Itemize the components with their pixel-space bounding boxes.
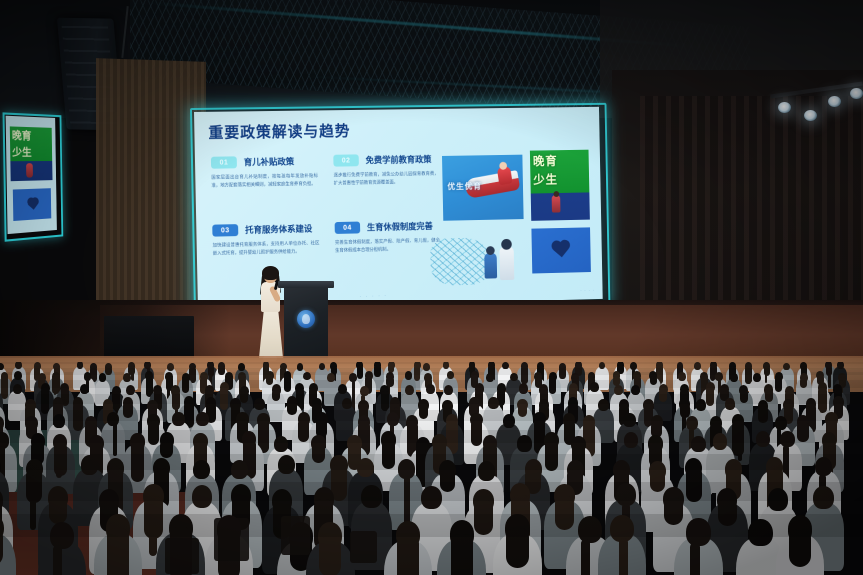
- section-heading-03: 托育服务体系建设: [245, 223, 312, 236]
- audience-member-hair: [419, 405, 429, 419]
- main-led-screen: 重要政策解读与趋势 01 育儿补贴政策 国家层面出台育儿补贴制度，按每孩每年发放…: [194, 107, 603, 310]
- side-display-screen: 晚育 少生: [6, 116, 57, 234]
- audience-member-head: [756, 431, 770, 447]
- audience-member-hair: [706, 387, 714, 405]
- side-banner-line1: 晚育: [12, 126, 32, 142]
- section-body-03: 加快建设普惠托育服务体系，支持用人单位办托、社区嵌入式托育，提升婴幼儿照护服务供…: [213, 239, 320, 258]
- audience-member-head: [13, 384, 22, 394]
- audience-member-head: [517, 435, 531, 451]
- section-badge-03: 03: [212, 224, 238, 237]
- podium: [284, 286, 328, 362]
- section-header: 02 免费学前教育政策: [333, 153, 438, 167]
- banner-caption-line2: 少生: [533, 171, 558, 188]
- audience-member-hair: [818, 388, 826, 413]
- section-header: 04 生育休假制度完善: [335, 220, 440, 234]
- presenter-skirt: [259, 310, 283, 358]
- slide-footer-right: · · · ·: [580, 287, 595, 292]
- section-body-02: 逐步推行免费学前教育，减免公办幼儿园保育教育费，扩大普惠性学前教育资源覆盖面。: [334, 170, 439, 188]
- audience-member-head: [303, 372, 311, 381]
- audience-member-hair: [220, 387, 228, 409]
- audience-member-head: [423, 363, 430, 371]
- audience-member-hair: [160, 440, 173, 458]
- banner-green-field: 晚育 少生: [530, 150, 589, 194]
- side-banner-image: 晚育 少生: [10, 126, 53, 181]
- audience-member-head: [488, 397, 499, 409]
- audience-member-hair: [506, 528, 528, 568]
- section-badge-02: 02: [333, 154, 359, 166]
- audience-member-hair: [374, 365, 380, 377]
- side-screen-content: 晚育 少生: [6, 116, 57, 234]
- audience-member-hair: [440, 470, 456, 492]
- audience-member-head: [196, 412, 208, 426]
- audience-member-ponytail: [54, 379, 57, 394]
- audience-member-hair: [650, 471, 666, 492]
- audience-member-head: [753, 373, 761, 382]
- presentation-slide: 重要政策解读与趋势 01 育儿补贴政策 国家层面出台育儿补贴制度，按每孩每年发放…: [194, 107, 603, 310]
- audience-member-head: [691, 436, 705, 452]
- audience-member-head: [713, 433, 727, 449]
- audience-member-hair: [545, 440, 558, 470]
- stage-spot-light-icon: [804, 110, 817, 121]
- audience-member-hair: [718, 499, 737, 526]
- audience-member-head: [696, 399, 707, 411]
- audience-member-head: [50, 522, 74, 550]
- audience-member-head: [254, 398, 265, 410]
- audience-member-ponytail: [53, 545, 62, 575]
- audience-member-hair: [312, 443, 325, 463]
- heart-icon: [25, 197, 40, 212]
- audience-member-hair: [107, 528, 129, 575]
- audience-member-head: [405, 371, 413, 380]
- audience-member-hair: [789, 529, 811, 567]
- audience-member-hair: [182, 377, 189, 393]
- audience-member-hair: [105, 367, 111, 375]
- audience-member-head: [327, 373, 335, 382]
- section-body-04: 完善生育休假制度，落实产假、陪产假、育儿假，健全生育休假成本合理分担机制。: [335, 237, 440, 255]
- audience-member-hair: [319, 536, 341, 575]
- audience-member-hair: [123, 402, 133, 417]
- banner-person-figure: [552, 195, 561, 213]
- audience-member-hair: [650, 376, 657, 386]
- slide-image-boat: 优生优育: [442, 155, 524, 221]
- audience-member-ponytail: [56, 448, 61, 478]
- slide-section-01: 01 育儿补贴政策 国家层面出台育儿补贴制度，按每孩每年发放补贴标准，地方配套落…: [211, 155, 318, 190]
- audience-member-head: [77, 362, 84, 369]
- audience-member-head: [172, 412, 184, 426]
- audience-member-ponytail: [738, 426, 743, 460]
- audience-member-head: [123, 373, 131, 382]
- audience-member-hair: [797, 422, 808, 442]
- audience-member-head: [342, 398, 353, 410]
- audience-member-hair: [298, 419, 309, 443]
- audience-member-hair: [549, 376, 556, 394]
- audience-member-head: [192, 485, 212, 508]
- audience-member-hair: [73, 403, 83, 432]
- audience-member-ponytail: [404, 476, 410, 527]
- audience-member-head: [519, 383, 528, 393]
- audience-member-head: [578, 516, 602, 544]
- audience-chair: [350, 531, 378, 563]
- audience-member-hair: [471, 420, 482, 446]
- section-header: 01 育儿补贴政策: [211, 155, 318, 169]
- audience-member-hair: [451, 534, 473, 575]
- section-heading-01: 育儿补贴政策: [244, 155, 295, 168]
- illustration-person-1: [484, 253, 497, 279]
- audience-member-hair: [272, 390, 280, 402]
- audience-member-hair: [131, 441, 144, 481]
- audience-member-head: [631, 385, 640, 395]
- stage-spot-light-icon: [828, 96, 841, 107]
- audience-member-head: [167, 363, 174, 371]
- audience-member-head: [486, 373, 494, 382]
- slide-footer-left: · · · · ·: [359, 293, 387, 299]
- audience: [0, 362, 863, 575]
- audience-member-ponytail: [30, 475, 36, 529]
- audience-member-head: [405, 385, 414, 395]
- audience-member-head: [421, 486, 441, 509]
- slide-image-blue-heart: [531, 227, 590, 273]
- audience-member-head: [193, 460, 210, 479]
- audience-member-head: [598, 399, 609, 411]
- audience-member-hair: [686, 467, 702, 502]
- side-heart-image: [13, 188, 51, 221]
- section-heading-02: 免费学前教育政策: [365, 153, 431, 166]
- audience-member-ponytail: [149, 504, 157, 556]
- boat-image-caption: 优生优育: [447, 181, 482, 192]
- audience-member-head: [624, 432, 638, 448]
- audience-member-head: [274, 436, 288, 452]
- section-badge-01: 01: [211, 156, 237, 168]
- audience-member-ponytail: [828, 367, 831, 388]
- audience-chair: [214, 518, 249, 561]
- audience-member-head: [768, 488, 788, 511]
- audience-member-hair: [664, 498, 683, 524]
- audience-member-hair: [521, 366, 527, 384]
- slide-section-04: 04 生育休假制度完善 完善生育休假制度，落实产假、陪产假、育儿假，健全生育休假…: [335, 220, 440, 255]
- audience-member-head: [15, 362, 22, 369]
- audience-member-head: [590, 382, 599, 392]
- stage-spot-light-icon: [778, 102, 791, 113]
- stage-spot-light-icon: [850, 88, 863, 99]
- stage-monitor-box: [104, 316, 194, 360]
- slide-section-03: 03 托育服务体系建设 加快建设普惠托育服务体系，支持用人单位办托、社区嵌入式托…: [212, 222, 319, 257]
- audience-member-ponytail: [765, 369, 768, 383]
- audience-member-ponytail: [131, 368, 134, 380]
- audience-member-hair: [397, 535, 419, 575]
- audience-member-hair: [659, 389, 667, 402]
- audience-member-head: [813, 486, 833, 509]
- section-body-01: 国家层面出台育儿补贴制度，按每孩每年发放补贴标准，地方配套落实相关细则，减轻家庭…: [211, 172, 318, 190]
- audience-member-hair: [740, 390, 748, 403]
- audience-member-head: [278, 455, 295, 474]
- slide-image-green-banner: 晚育 少生: [530, 150, 590, 221]
- audience-member-head: [678, 372, 686, 381]
- audience-member-hair: [357, 365, 363, 379]
- auditorium-photo: 晚育 少生 重要政策解读与趋势 01 育儿补贴政策 国家层面出台育儿补贴制度，按…: [0, 0, 863, 575]
- slide-image-illustration: [430, 231, 527, 292]
- side-banner-line2: 少生: [12, 143, 32, 159]
- audience-member-head: [730, 373, 738, 382]
- audience-member-head: [338, 384, 347, 394]
- banner-caption-line1: 晚育: [533, 152, 558, 169]
- audience-member-head: [357, 458, 374, 477]
- audience-member-hair: [758, 406, 768, 423]
- audience-member-hair: [49, 497, 68, 523]
- side-banner-green-field: 晚育 少生: [10, 126, 52, 161]
- podium-top-surface: [278, 281, 334, 288]
- audience-member-head: [694, 362, 701, 370]
- heart-icon: [550, 240, 572, 261]
- audience-member-head: [238, 363, 245, 371]
- podium-emblem-icon: [297, 310, 315, 328]
- section-header: 03 托育服务体系建设: [212, 222, 319, 236]
- audience-member-hair: [284, 375, 291, 392]
- audience-member-head: [502, 362, 509, 369]
- audience-member-head: [478, 461, 495, 480]
- audience-member-ponytail: [619, 538, 628, 575]
- audience-member-head: [444, 385, 453, 395]
- audience-member-hair: [287, 402, 297, 415]
- slide-title: 重要政策解读与趋势: [208, 120, 350, 143]
- audience-member-head: [53, 414, 65, 428]
- audience-member-hair: [555, 496, 574, 531]
- audience-member-hair: [559, 367, 565, 379]
- audience-member-head: [748, 519, 772, 547]
- audience-member-head: [81, 455, 98, 474]
- illustration-scribble: [430, 237, 490, 285]
- audience-member-hair: [474, 500, 493, 535]
- audience-member-hair: [775, 376, 782, 391]
- section-heading-04: 生育休假制度完善: [367, 220, 433, 233]
- audience-member-head: [231, 460, 248, 479]
- audience-member-hair: [382, 439, 395, 469]
- audience-member-ponytail: [581, 539, 590, 575]
- audience-member-head: [426, 384, 435, 394]
- side-banner-person: [26, 163, 33, 178]
- audience-member-head: [686, 518, 710, 546]
- audience-member-ponytail: [690, 542, 699, 575]
- boat-figure: [497, 166, 513, 186]
- slide-section-02: 02 免费学前教育政策 逐步推行免费学前教育，减免公办幼儿园保育教育费，扩大普惠…: [333, 153, 438, 188]
- audience-member-head: [99, 373, 107, 382]
- audience-member-head: [361, 485, 381, 508]
- audience-member-head: [503, 414, 515, 428]
- audience-member-ponytail: [746, 369, 749, 382]
- audience-member-ponytail: [113, 423, 118, 456]
- audience-member-head: [623, 413, 635, 427]
- audience-member-hair: [800, 378, 807, 388]
- audience-member-head: [837, 362, 844, 369]
- presenter-hair: [262, 266, 279, 280]
- audience-member-head: [725, 398, 736, 410]
- illustration-person-2: [499, 247, 514, 281]
- audience-member-head: [510, 373, 518, 382]
- audience-member-hair: [218, 366, 224, 375]
- audience-chair: [165, 538, 199, 574]
- audience-member-head: [14, 371, 22, 380]
- audience-chair: [281, 516, 310, 555]
- section-badge-04: 04: [335, 222, 361, 234]
- audience-member-hair: [148, 421, 159, 446]
